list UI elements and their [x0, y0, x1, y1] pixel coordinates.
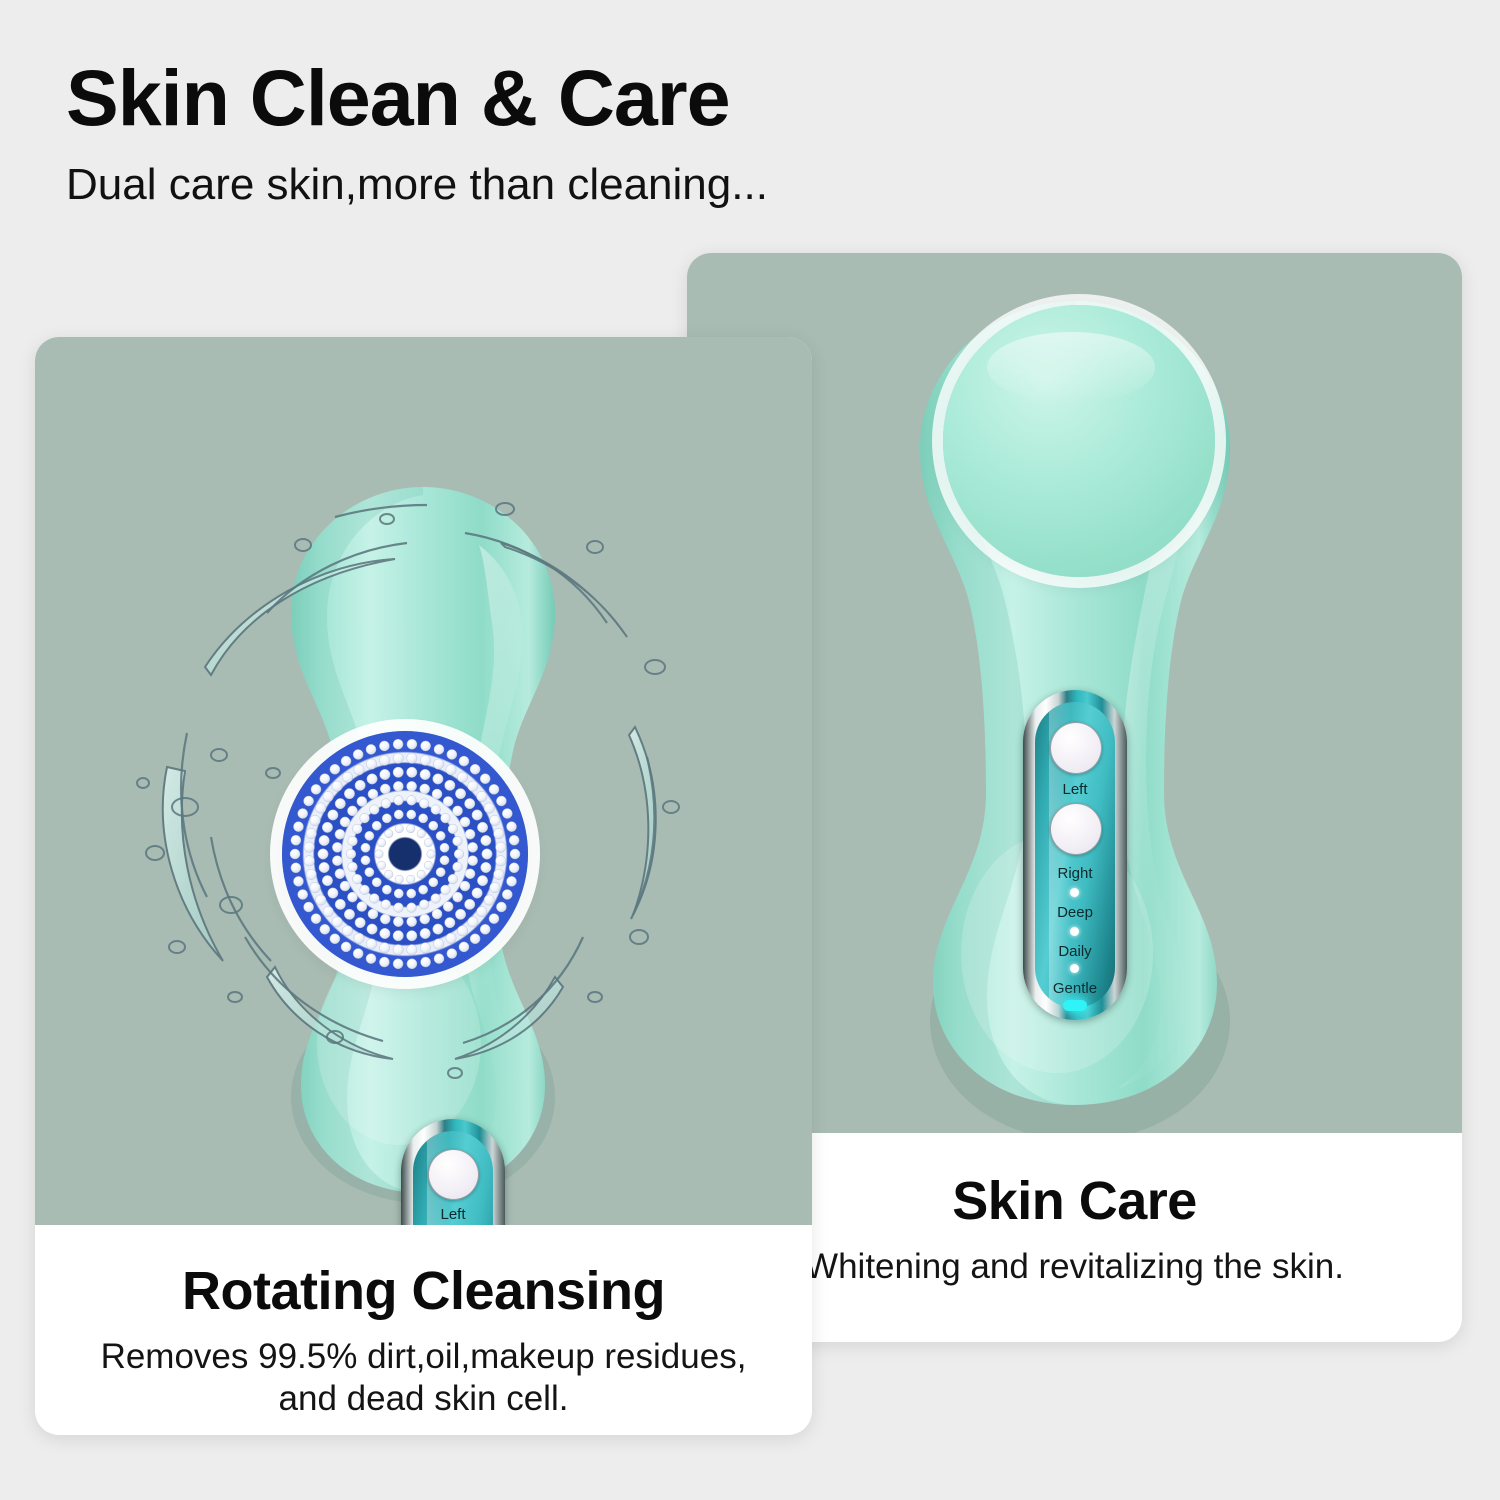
brush-bristles	[282, 731, 528, 977]
right-button-label: Right	[1023, 866, 1127, 881]
power-led-indicator	[1063, 1000, 1087, 1011]
silicone-dome-head	[943, 305, 1215, 577]
daily-mode-label: Daily	[1023, 944, 1127, 959]
dome-gloss	[987, 332, 1156, 403]
description-line-2: and dead skin cell.	[279, 1379, 569, 1418]
rotating-cleansing-device: Left Right Deep Daily Gentle	[35, 337, 812, 1225]
page-subtitle: Dual care skin,more than cleaning...	[66, 137, 1266, 207]
product-card-rotating-cleansing[interactable]: Left Right Deep Daily Gentle Rotating Cl…	[35, 337, 812, 1435]
rotating-cleansing-product-photo: Left Right Deep Daily Gentle	[35, 337, 812, 1225]
rotating-cleansing-description: Removes 99.5% dirt,oil,makeup residues, …	[35, 1320, 812, 1421]
daily-mode-indicator	[1070, 927, 1079, 936]
left-button-label: Left	[401, 1207, 505, 1222]
page-title: Skin Clean & Care	[66, 58, 1266, 137]
left-button[interactable]	[428, 1149, 479, 1200]
rotating-cleansing-caption: Rotating Cleansing Removes 99.5% dirt,oi…	[35, 1225, 812, 1421]
control-panel[interactable]: Left Right Deep Daily Gentle	[401, 1119, 505, 1225]
deep-mode-label: Deep	[1023, 905, 1127, 920]
rotating-cleansing-title: Rotating Cleansing	[35, 1263, 812, 1320]
left-button[interactable]	[1050, 722, 1102, 774]
left-button-label: Left	[1023, 782, 1127, 797]
deep-mode-indicator	[1070, 888, 1079, 897]
rotating-brush-head	[282, 731, 528, 977]
control-panel[interactable]: Left Right Deep Daily Gentle	[1023, 690, 1127, 1020]
description-line-1: Removes 99.5% dirt,oil,makeup residues,	[101, 1337, 747, 1376]
right-button[interactable]	[1050, 803, 1102, 855]
gentle-mode-label: Gentle	[1023, 981, 1127, 996]
page-header: Skin Clean & Care Dual care skin,more th…	[66, 58, 1266, 207]
gentle-mode-indicator	[1070, 964, 1079, 973]
